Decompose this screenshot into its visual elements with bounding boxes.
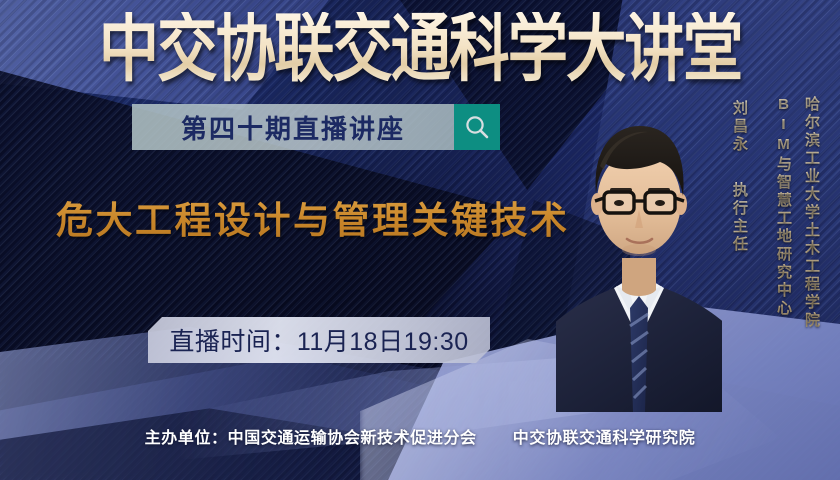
search-icon[interactable] [454,104,500,150]
live-time-text: 直播时间：11月18日19:30 [169,322,468,358]
episode-banner: 第四十期直播讲座 [132,104,454,150]
speaker-research-center: BIM与智慧工地研究中心 [773,96,794,318]
speaker-portrait [556,82,722,412]
page-title: 中交协联交通科学大讲堂 [4,12,836,86]
topic-title: 危大工程设计与管理关键技术 [56,190,570,244]
speaker-organization: 哈尔滨工业大学土木工程学院 [801,96,822,330]
episode-label: 第四十期直播讲座 [181,109,405,146]
live-time-badge: 直播时间：11月18日19:30 [148,317,490,363]
footer-organizer-main: 主办单位：中国交通运输协会新技术促进分会 [145,430,477,447]
speaker-role: 执行主任 [729,182,750,254]
speaker-name: 刘昌永 [729,100,750,154]
footer-organizers: 主办单位：中国交通运输协会新技术促进分会 中交协联交通科学研究院 [0,424,840,448]
live-lecture-poster: 中交协联交通科学大讲堂 第四十期直播讲座 危大工程设计与管理关键技术 直播时间：… [0,0,840,480]
footer-organizer-secondary: 中交协联交通科学研究院 [513,430,696,447]
